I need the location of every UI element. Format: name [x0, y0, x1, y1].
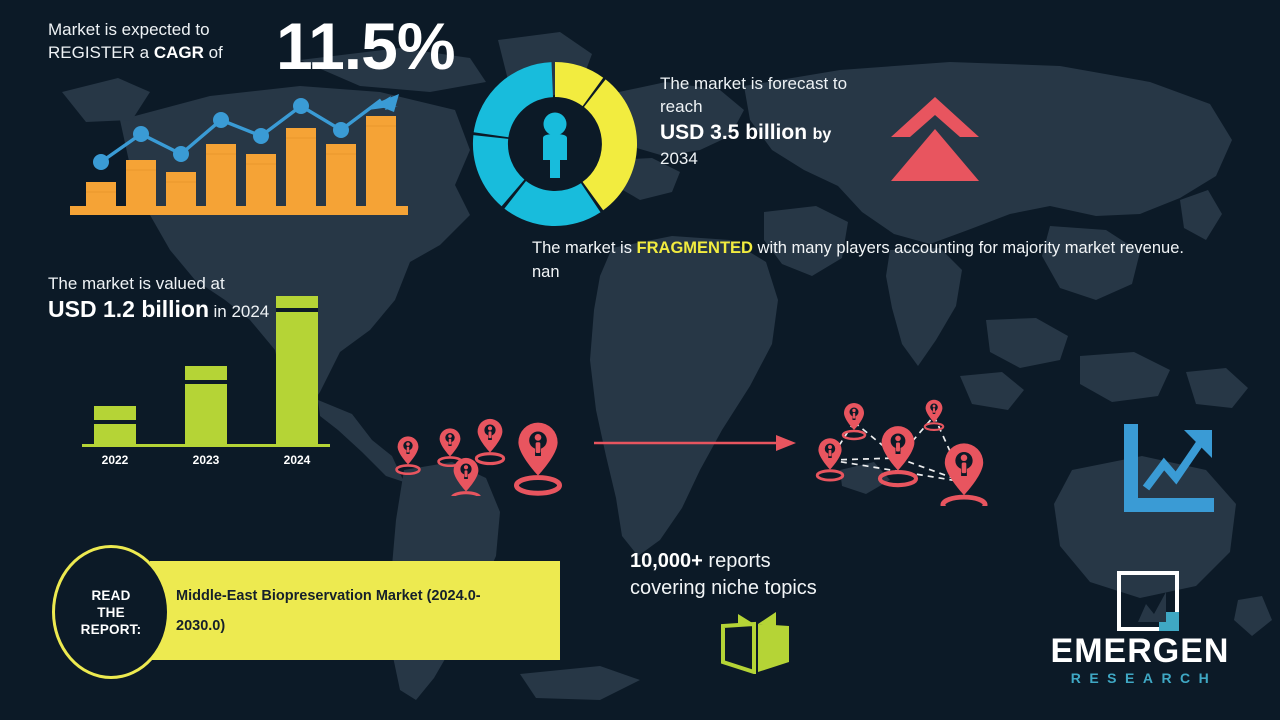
forecast-value-line: USD 3.5 billion by [660, 120, 890, 148]
badge-line-3: REPORT: [81, 622, 142, 637]
forecast-block: The market is forecast to reach USD 3.5 … [660, 72, 890, 170]
cagr-lead-line1: Market is expected to [48, 20, 210, 39]
infographic-canvas: Market is expected to REGISTER a CAGR of… [0, 0, 1280, 720]
logo-wordmark: EMERGEN [1020, 632, 1260, 670]
person-icon [543, 113, 567, 179]
reports-count-value: 10,000+ [630, 550, 703, 572]
read-the-report-label: READ THE REPORT: [81, 587, 142, 638]
cagr-strong-word: CAGR [154, 43, 204, 62]
report-title: Middle-East Biopreservation Market (2024… [176, 581, 506, 641]
forecast-year: 2034 [660, 148, 890, 170]
bar-label-2023: 2023 [193, 453, 220, 467]
fragmented-statement: The market is FRAGMENTED with many playe… [532, 236, 1212, 284]
bar-label-2024: 2024 [284, 453, 311, 467]
connected-location-pins-network-icon [806, 386, 1016, 506]
badge-line-2: THE [97, 605, 125, 620]
cagr-lead-line2-post: of [204, 43, 223, 62]
donut-population-chart-icon [460, 52, 650, 237]
cagr-lead-text: Market is expected to REGISTER a CAGR of [48, 18, 278, 64]
fragmented-highlight: FRAGMENTED [637, 239, 753, 257]
reports-count-line1: 10,000+ reports [630, 548, 920, 575]
emergen-research-logo: EMERGEN RESEARCH [1020, 570, 1260, 690]
bar-label-2022: 2022 [102, 453, 129, 467]
reports-count-word: reports [703, 550, 771, 572]
right-arrow-icon [592, 428, 798, 458]
reports-count-block: 10,000+ reports covering niche topics [630, 548, 920, 602]
valued-lead-text: The market is valued at [48, 272, 348, 295]
cagr-lead-line2-pre: REGISTER a [48, 43, 154, 62]
forecast-lead-text: The market is forecast to reach [660, 72, 890, 118]
blue-line-chart-up-icon [1118, 422, 1218, 514]
market-value-bar-chart: 2022 2023 2024 [76, 296, 336, 471]
open-book-icon [718, 612, 794, 674]
read-the-report-badge[interactable]: READ THE REPORT: [52, 545, 170, 679]
badge-line-1: READ [91, 588, 130, 603]
forecast-amount: USD 3.5 billion [660, 121, 807, 144]
logo-subtitle: RESEARCH [1020, 670, 1260, 686]
fragmented-pre: The market is [532, 239, 637, 257]
scattered-location-pins-icon [380, 386, 580, 496]
double-chevron-up-icon [890, 95, 980, 185]
square-chart-logo-mark [1116, 570, 1180, 632]
forecast-by-label: by [813, 126, 832, 143]
cagr-value: 11.5% [276, 8, 455, 84]
reports-count-line2: covering niche topics [630, 575, 920, 602]
report-banner[interactable]: Middle-East Biopreservation Market (2024… [150, 561, 560, 660]
orange-bar-growth-chart-icon [68, 88, 413, 218]
